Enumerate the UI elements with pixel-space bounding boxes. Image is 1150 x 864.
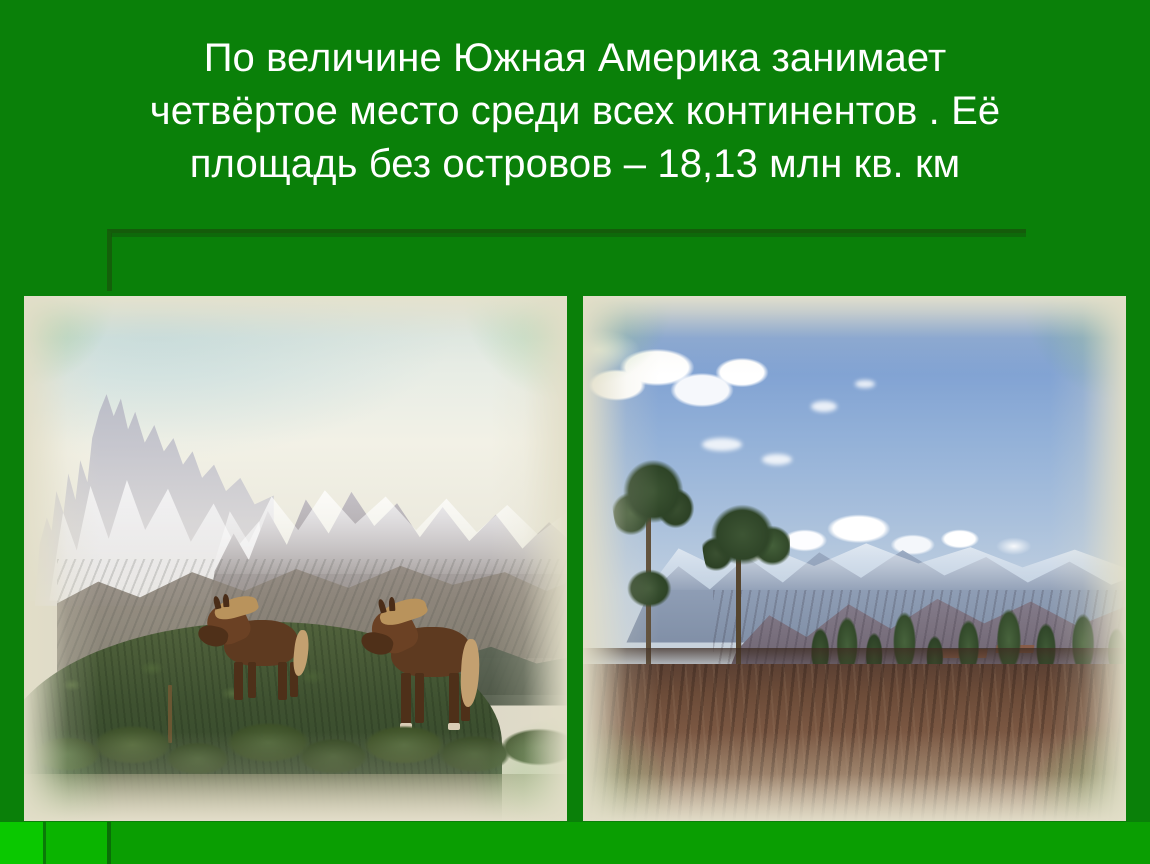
photo-andes-mountains-with-horses[interactable] — [24, 296, 567, 821]
cloud-wisp-3 — [702, 438, 742, 451]
content-placeholder-box[interactable] — [107, 229, 1026, 291]
content-placeholder-shadow — [111, 233, 1026, 237]
photo-left-scene — [24, 296, 567, 821]
slide-canvas: По величине Южная Америка занимает четвё… — [0, 0, 1150, 864]
photo-andean-valley-plowed-field[interactable] — [583, 296, 1126, 821]
page-title: По величине Южная Америка занимает четвё… — [60, 32, 1090, 191]
cloud-bank-upper-left — [583, 312, 822, 438]
photo-right-scene — [583, 296, 1126, 821]
cloud-wisp-2 — [855, 380, 875, 388]
cloud-wisp-1 — [811, 401, 837, 412]
cloud-wisp-4 — [762, 454, 792, 465]
plow-furrow-rows — [583, 664, 1126, 822]
foreground-ground — [24, 774, 567, 821]
